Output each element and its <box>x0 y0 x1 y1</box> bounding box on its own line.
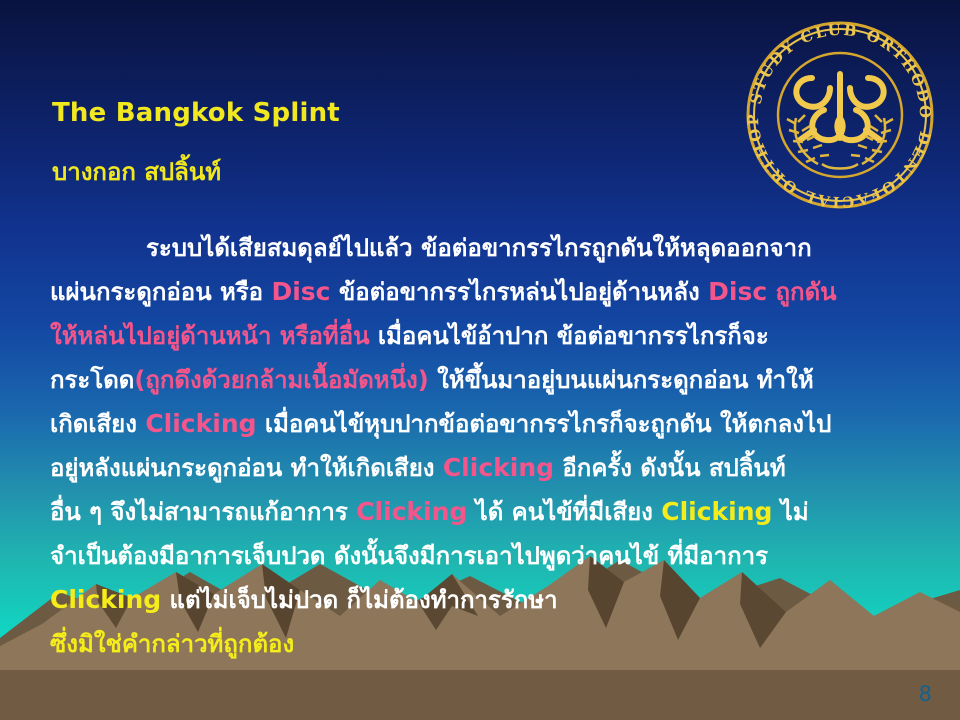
text-run-2-3: ข้อต่อขากรรไกรหล่นไปอยู่ด้านหลัง <box>330 278 708 306</box>
seal-text-upper: STUDY CLUB ORTHODONTICS AND <box>734 14 934 120</box>
body-line-1: ระบบได้เสียสมดุลย์ไปแล้ว ข้อต่อขากรรไกรถ… <box>50 226 930 270</box>
text-run-7-3: ได้ คนไข้ที่มีเสียง <box>467 498 661 526</box>
text-run-7-1: อื่น ๆ จึงไม่สามารถแก้อาการ <box>50 498 356 526</box>
body-line-7: อื่น ๆ จึงไม่สามารถแก้อาการ Clicking ได้… <box>50 490 930 534</box>
text-run-5-1: เกิดเสียง <box>50 410 145 438</box>
body-line-8: จำเป็นต้องมีอาการเจ็บปวด ดังนั้นจึงมีการ… <box>50 534 930 578</box>
body-line-5: เกิดเสียง Clicking เมื่อคนไข้หุบปากข้อต่… <box>50 402 930 446</box>
seal-monogram <box>796 74 883 140</box>
mountain-base-dark <box>0 670 960 720</box>
seal-svg: STUDY CLUB ORTHODONTICS AND DENTOFACIAL … <box>734 14 946 216</box>
seal-text-lower: DENTOFACIAL ORTHOPEDICS <box>734 14 934 211</box>
text-run-7-2: Clicking <box>356 497 467 526</box>
text-run-8-1: จำเป็นต้องมีอาการเจ็บปวด ดังนั้นจึงมีการ… <box>50 542 768 570</box>
seal-laurel-base <box>822 164 858 169</box>
text-run-5-2: Clicking <box>145 409 256 438</box>
text-run-6-1: อยู่หลังแผ่นกระดูกอ่อน ทำให้เกิดเสียง <box>50 454 443 482</box>
body-line-6: อยู่หลังแผ่นกระดูกอ่อน ทำให้เกิดเสียง Cl… <box>50 446 930 490</box>
text-run-2-5: ถูกดัน <box>767 278 836 306</box>
text-run-2-1: แผ่นกระดูกอ่อน หรือ <box>50 278 271 306</box>
slide-title-english: The Bangkok Splint <box>52 98 340 128</box>
text-run-6-2: Clicking <box>443 453 554 482</box>
text-run-2-2: Disc <box>271 277 330 306</box>
body-line-4: กระโดด(ถูกดึงด้วยกล้ามเนื้อมัดหนึ่ง) ให้… <box>50 358 930 402</box>
text-run-9-2: แต่ไม่เจ็บไม่ปวด ก็ไม่ต้องทำการรักษา <box>161 586 557 614</box>
club-seal-logo: STUDY CLUB ORTHODONTICS AND DENTOFACIAL … <box>734 14 946 216</box>
page-number: 8 <box>919 682 932 706</box>
text-run-2-4: Disc <box>708 277 767 306</box>
text-run-7-5: ไม่ <box>772 498 808 526</box>
text-run-7-4: Clicking <box>661 497 772 526</box>
text-run-9-1: Clicking <box>50 585 161 614</box>
body-line-2: แผ่นกระดูกอ่อน หรือ Disc ข้อต่อขากรรไกรห… <box>50 270 930 314</box>
slide-canvas: STUDY CLUB ORTHODONTICS AND DENTOFACIAL … <box>0 0 960 720</box>
body-text-block: ระบบได้เสียสมดุลย์ไปแล้ว ข้อต่อขากรรไกรถ… <box>50 226 930 666</box>
text-run-4-3: ให้ขึ้นมาอยู่บนแผ่นกระดูกอ่อน ทำให้ <box>429 366 814 394</box>
text-run-3-1: ให้หล่นไปอยู่ด้านหน้า หรือที่อื่น <box>50 322 370 350</box>
text-run-4-2: (ถูกดึงด้วยกล้ามเนื้อมัดหนึ่ง) <box>134 366 428 394</box>
slide-title-thai: บางกอก สปลิ้นท์ <box>52 152 221 191</box>
text-run-6-3: อีกครั้ง ดังนั้น สปลิ้นท์ <box>554 454 786 482</box>
text-run-10-1: ซึ่งมิใช่คำกล่าวที่ถูกต้อง <box>50 630 294 658</box>
text-run-5-3: เมื่อคนไข้หุบปากข้อต่อขากรรไกรก็จะถูกดัน… <box>257 410 832 438</box>
body-line-9: Clicking แต่ไม่เจ็บไม่ปวด ก็ไม่ต้องทำการ… <box>50 578 930 622</box>
body-line-3: ให้หล่นไปอยู่ด้านหน้า หรือที่อื่น เมื่อค… <box>50 314 930 358</box>
text-run-4-1: กระโดด <box>50 366 134 394</box>
text-run-1-1: ระบบได้เสียสมดุลย์ไปแล้ว ข้อต่อขากรรไกรถ… <box>146 234 812 262</box>
text-run-3-2: เมื่อคนไข้อ้าปาก ข้อต่อขากรรไกรก็จะ <box>370 322 769 350</box>
body-line-10: ซึ่งมิใช่คำกล่าวที่ถูกต้อง <box>50 622 930 666</box>
